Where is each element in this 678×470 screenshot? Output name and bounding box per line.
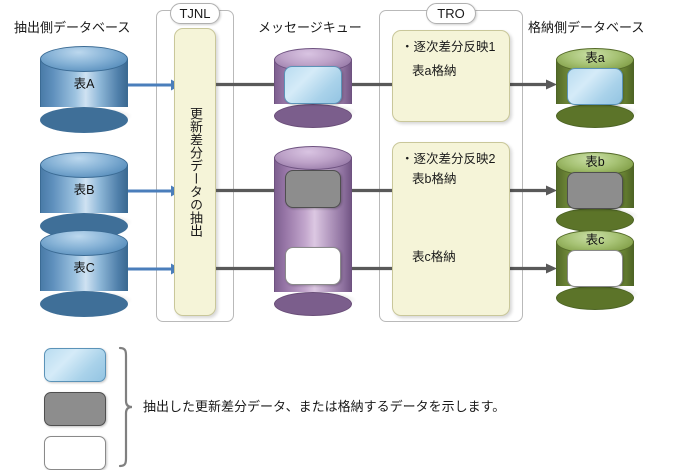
target-data-chip-gray: [567, 172, 623, 209]
cylinder-top: [40, 46, 128, 72]
column-heading-queue: メッセージキュー: [258, 20, 362, 36]
target-cylinder-table-c: 表c: [556, 230, 634, 298]
connector-extractor-to-queue-1: [216, 82, 276, 87]
source-cylinder-table-c: 表C: [40, 230, 128, 304]
target-cylinder-label: 表c: [556, 233, 634, 248]
target-cylinder-label: 表a: [556, 51, 634, 66]
target-cylinder-table-b: 表b: [556, 152, 634, 220]
source-cylinder-label: 表B: [40, 183, 128, 198]
cylinder-top: [40, 152, 128, 178]
target-cylinder-table-a: 表a: [556, 48, 634, 116]
target-data-chip-blue: [567, 68, 623, 105]
legend-description: 抽出した更新差分データ、または格納するデータを示します。: [143, 398, 505, 416]
tro-box-2-line2: 表b格納: [412, 170, 456, 189]
extractor-box: 更新差分データの抽出: [174, 28, 216, 316]
cylinder-bottom: [40, 291, 128, 317]
cylinder-bottom: [40, 107, 128, 133]
group-label-tjnl: TJNL: [170, 3, 220, 24]
cylinder-top: [40, 230, 128, 256]
tro-box-1-line2: 表a格納: [412, 62, 456, 81]
connector-extractor-to-queue-3: [216, 266, 276, 271]
column-heading-target: 格納側データベース: [528, 20, 644, 36]
diagram-canvas: 抽出側データベース メッセージキュー 格納側データベース TJNL TRO 表A…: [0, 0, 678, 469]
tro-box-2-line1: ・逐次差分反映2: [401, 150, 495, 169]
queue-data-chip-gray: [285, 170, 341, 208]
cylinder-bottom: [556, 104, 634, 128]
cylinder-bottom: [556, 208, 634, 232]
target-cylinder-label: 表b: [556, 155, 634, 170]
cylinder-top: [274, 146, 352, 170]
queue-cylinder-1: [274, 48, 352, 116]
tro-box-1-line1: ・逐次差分反映1: [401, 38, 495, 57]
legend-swatch-gray: [44, 392, 106, 426]
legend-swatch-white: [44, 436, 106, 470]
legend-swatch-blue: [44, 348, 106, 382]
column-heading-source: 抽出側データベース: [14, 20, 130, 36]
source-cylinder-table-b: 表B: [40, 152, 128, 226]
target-data-chip-white: [567, 250, 623, 287]
connector-extractor-to-queue-2: [216, 188, 276, 193]
tro-box-1: ・逐次差分反映1 表a格納: [392, 30, 510, 122]
queue-cylinder-2: [274, 146, 352, 304]
source-cylinder-label: 表A: [40, 77, 128, 92]
queue-data-chip-blue: [284, 66, 342, 104]
extractor-label: 更新差分データの抽出: [186, 107, 204, 237]
cylinder-bottom: [274, 292, 352, 316]
source-cylinder-table-a: 表A: [40, 46, 128, 120]
queue-data-chip-white: [285, 247, 341, 285]
cylinder-bottom: [556, 286, 634, 310]
legend-brace-icon: [116, 346, 138, 468]
tro-box-2: ・逐次差分反映2 表b格納 表c格納: [392, 142, 510, 316]
group-label-tro: TRO: [426, 3, 476, 24]
tro-box-2-line3: 表c格納: [412, 248, 456, 267]
source-cylinder-label: 表C: [40, 261, 128, 276]
cylinder-bottom: [274, 104, 352, 128]
